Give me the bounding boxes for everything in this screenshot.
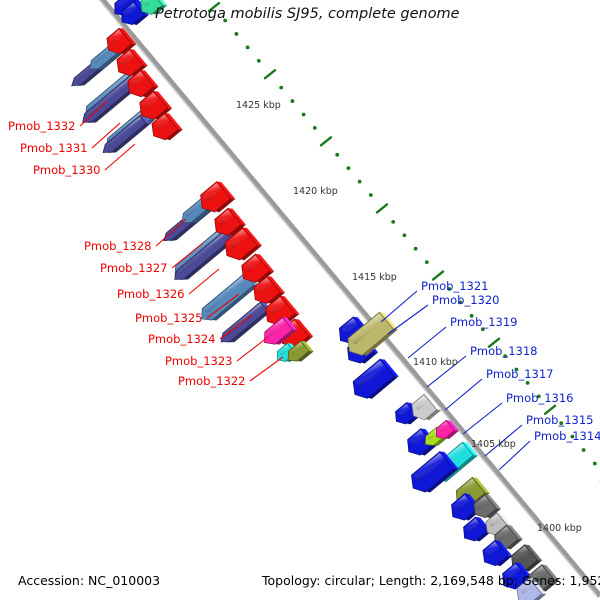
ruler-label-1410: 1410 kbp xyxy=(413,357,458,368)
ruler-minor-tick xyxy=(347,166,351,170)
gene-feature[interactable] xyxy=(171,228,236,286)
ruler-minor-tick xyxy=(302,113,306,117)
gene-label-pmob_1324[interactable]: Pmob_1324 xyxy=(148,332,216,346)
ruler-major-tick xyxy=(265,70,275,78)
leader-line-pmob_1319 xyxy=(408,327,446,358)
ruler-minor-tick xyxy=(526,381,530,385)
ruler-minor-tick xyxy=(358,180,362,184)
gene-label-pmob_1322[interactable]: Pmob_1322 xyxy=(178,374,246,388)
ruler-major-tick xyxy=(377,204,387,212)
gene-label-pmob_1319[interactable]: Pmob_1319 xyxy=(450,315,518,329)
leader-line-pmob_1323 xyxy=(237,337,268,361)
leader-line-pmob_1316 xyxy=(463,403,502,434)
page-title: Petrotoga mobilis SJ95, complete genome xyxy=(155,6,460,22)
ruler-label-1400: 1400 kbp xyxy=(537,523,582,534)
ruler-minor-tick xyxy=(403,233,407,237)
ruler-label-1420: 1420 kbp xyxy=(293,186,338,197)
genome-summary-text: Topology: circular; Length: 2,169,548 bp… xyxy=(261,573,600,588)
gene-label-pmob_1332[interactable]: Pmob_1332 xyxy=(8,119,76,133)
gene-label-pmob_1318[interactable]: Pmob_1318 xyxy=(470,344,538,358)
leader-line-pmob_1322 xyxy=(250,357,283,381)
ruler-label-1415: 1415 kbp xyxy=(352,272,397,283)
genome-viewer: 1425 kbp1420 kbp1415 kbp1410 kbp1405 kbp… xyxy=(0,0,600,600)
gene-label-pmob_1327[interactable]: Pmob_1327 xyxy=(100,261,168,275)
gene-label-pmob_1320[interactable]: Pmob_1320 xyxy=(432,293,500,307)
ruler-minor-tick xyxy=(313,126,317,130)
gene-label-pmob_1330[interactable]: Pmob_1330 xyxy=(33,163,101,177)
ruler-minor-tick xyxy=(279,86,283,90)
ruler-minor-tick xyxy=(246,45,250,49)
ruler-minor-tick xyxy=(291,99,295,103)
ruler-label-1405: 1405 kbp xyxy=(471,439,516,450)
gene-label-pmob_1316[interactable]: Pmob_1316 xyxy=(506,391,574,405)
ruler-minor-tick xyxy=(425,260,429,264)
leader-line-pmob_1320 xyxy=(388,305,428,334)
ruler-major-tick xyxy=(321,137,331,145)
gene-name-labels[interactable]: Pmob_1332Pmob_1331Pmob_1330Pmob_1328Pmob… xyxy=(8,119,600,443)
ruler-minor-tick xyxy=(257,59,261,63)
gene-label-pmob_1315[interactable]: Pmob_1315 xyxy=(526,413,594,427)
ruler-minor-tick xyxy=(235,32,239,36)
gene-label-pmob_1325[interactable]: Pmob_1325 xyxy=(135,311,203,325)
gene-label-pmob_1328[interactable]: Pmob_1328 xyxy=(84,239,152,253)
ruler-minor-tick xyxy=(414,247,418,251)
accession-text: Accession: NC_010003 xyxy=(18,573,160,588)
ruler-minor-tick xyxy=(593,462,597,466)
gene-label-pmob_1326[interactable]: Pmob_1326 xyxy=(117,287,185,301)
gene-label-pmob_1323[interactable]: Pmob_1323 xyxy=(165,354,233,368)
ruler-label-1425: 1425 kbp xyxy=(236,100,281,111)
ruler-minor-tick xyxy=(391,220,395,224)
gene-label-pmob_1321[interactable]: Pmob_1321 xyxy=(421,279,489,293)
gene-feature[interactable] xyxy=(348,357,399,405)
gene-label-pmob_1314[interactable]: Pmob_1314 xyxy=(534,429,600,443)
ruler-minor-tick xyxy=(335,153,339,157)
gene-label-pmob_1331[interactable]: Pmob_1331 xyxy=(20,141,88,155)
gene-label-pmob_1317[interactable]: Pmob_1317 xyxy=(486,367,554,381)
genome-map-canvas[interactable]: 1425 kbp1420 kbp1415 kbp1410 kbp1405 kbp… xyxy=(0,0,600,600)
ruler-minor-tick xyxy=(369,193,373,197)
leader-line-pmob_1317 xyxy=(445,379,482,410)
ruler-minor-tick xyxy=(582,448,586,452)
